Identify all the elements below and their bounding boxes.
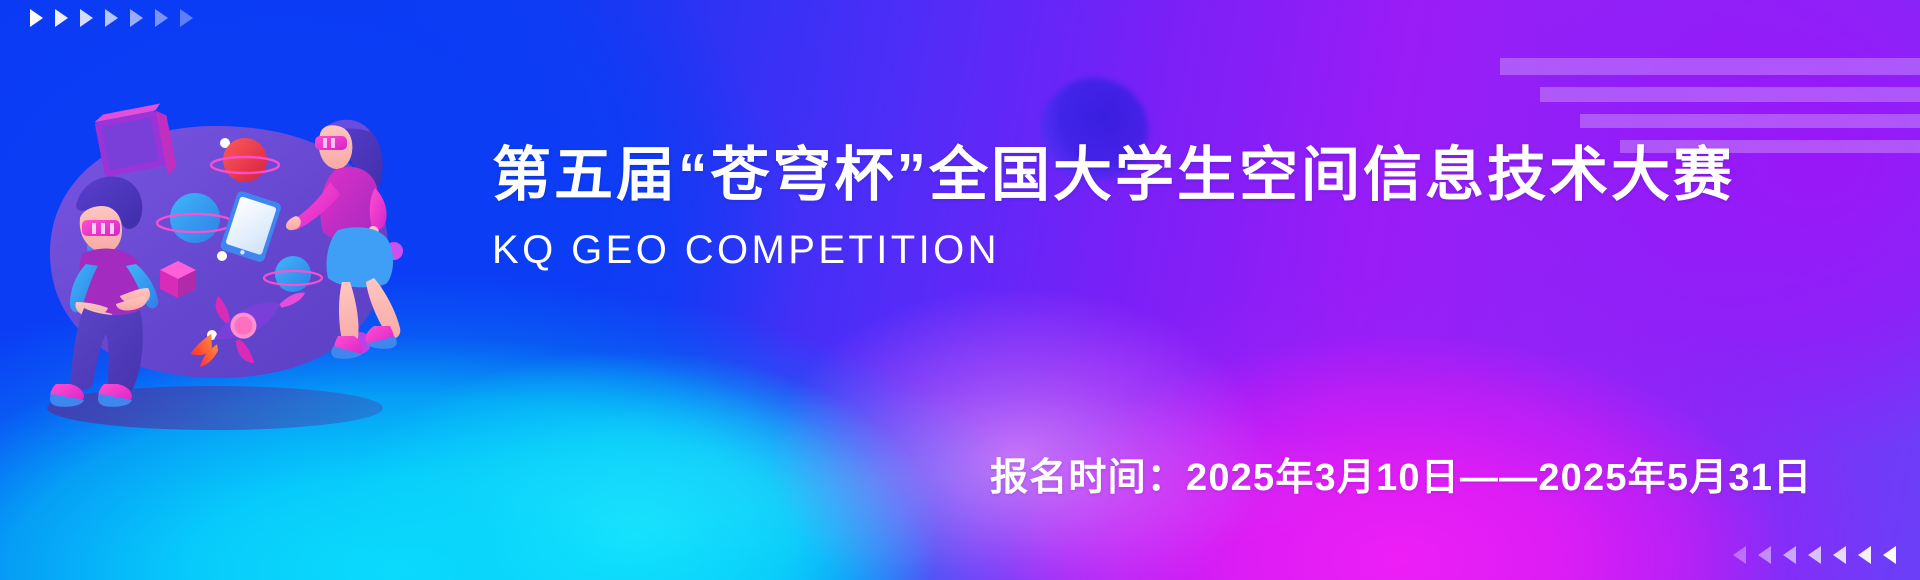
decorative-stripe [1500,58,1920,75]
triangle-right-icon [180,9,193,27]
decorative-stripes [1500,58,1920,153]
competition-banner: 第五届“苍穹杯”全国大学生空间信息技术大赛 KQ GEO COMPETITION… [0,0,1920,580]
triangle-left-icon [1883,546,1896,564]
registration-period: 报名时间：2025年3月10日——2025年5月31日 [990,446,1812,501]
decorative-stripe [1540,87,1920,102]
decorative-stripe [1580,114,1920,128]
triangle-right-icon [130,9,143,27]
triangle-right-icon [105,9,118,27]
star-dot [217,251,227,261]
bottom-right-arrow-group [1733,546,1896,564]
triangle-left-icon [1758,546,1771,564]
triangle-left-icon [1783,546,1796,564]
top-left-arrow-group [30,9,193,27]
vr-space-illustration [20,78,420,448]
triangle-left-icon [1808,546,1821,564]
banner-subtitle: KQ GEO COMPETITION [492,228,1912,273]
triangle-right-icon [155,9,168,27]
triangle-left-icon [1833,546,1846,564]
triangle-right-icon [55,9,68,27]
ground-shadow [47,386,383,430]
banner-title: 第五届“苍穹杯”全国大学生空间信息技术大赛 [492,142,1912,208]
triangle-right-icon [30,9,43,27]
triangle-right-icon [80,9,93,27]
triangle-left-icon [1858,546,1871,564]
banner-text-block: 第五届“苍穹杯”全国大学生空间信息技术大赛 KQ GEO COMPETITION [492,142,1912,273]
triangle-left-icon [1733,546,1746,564]
